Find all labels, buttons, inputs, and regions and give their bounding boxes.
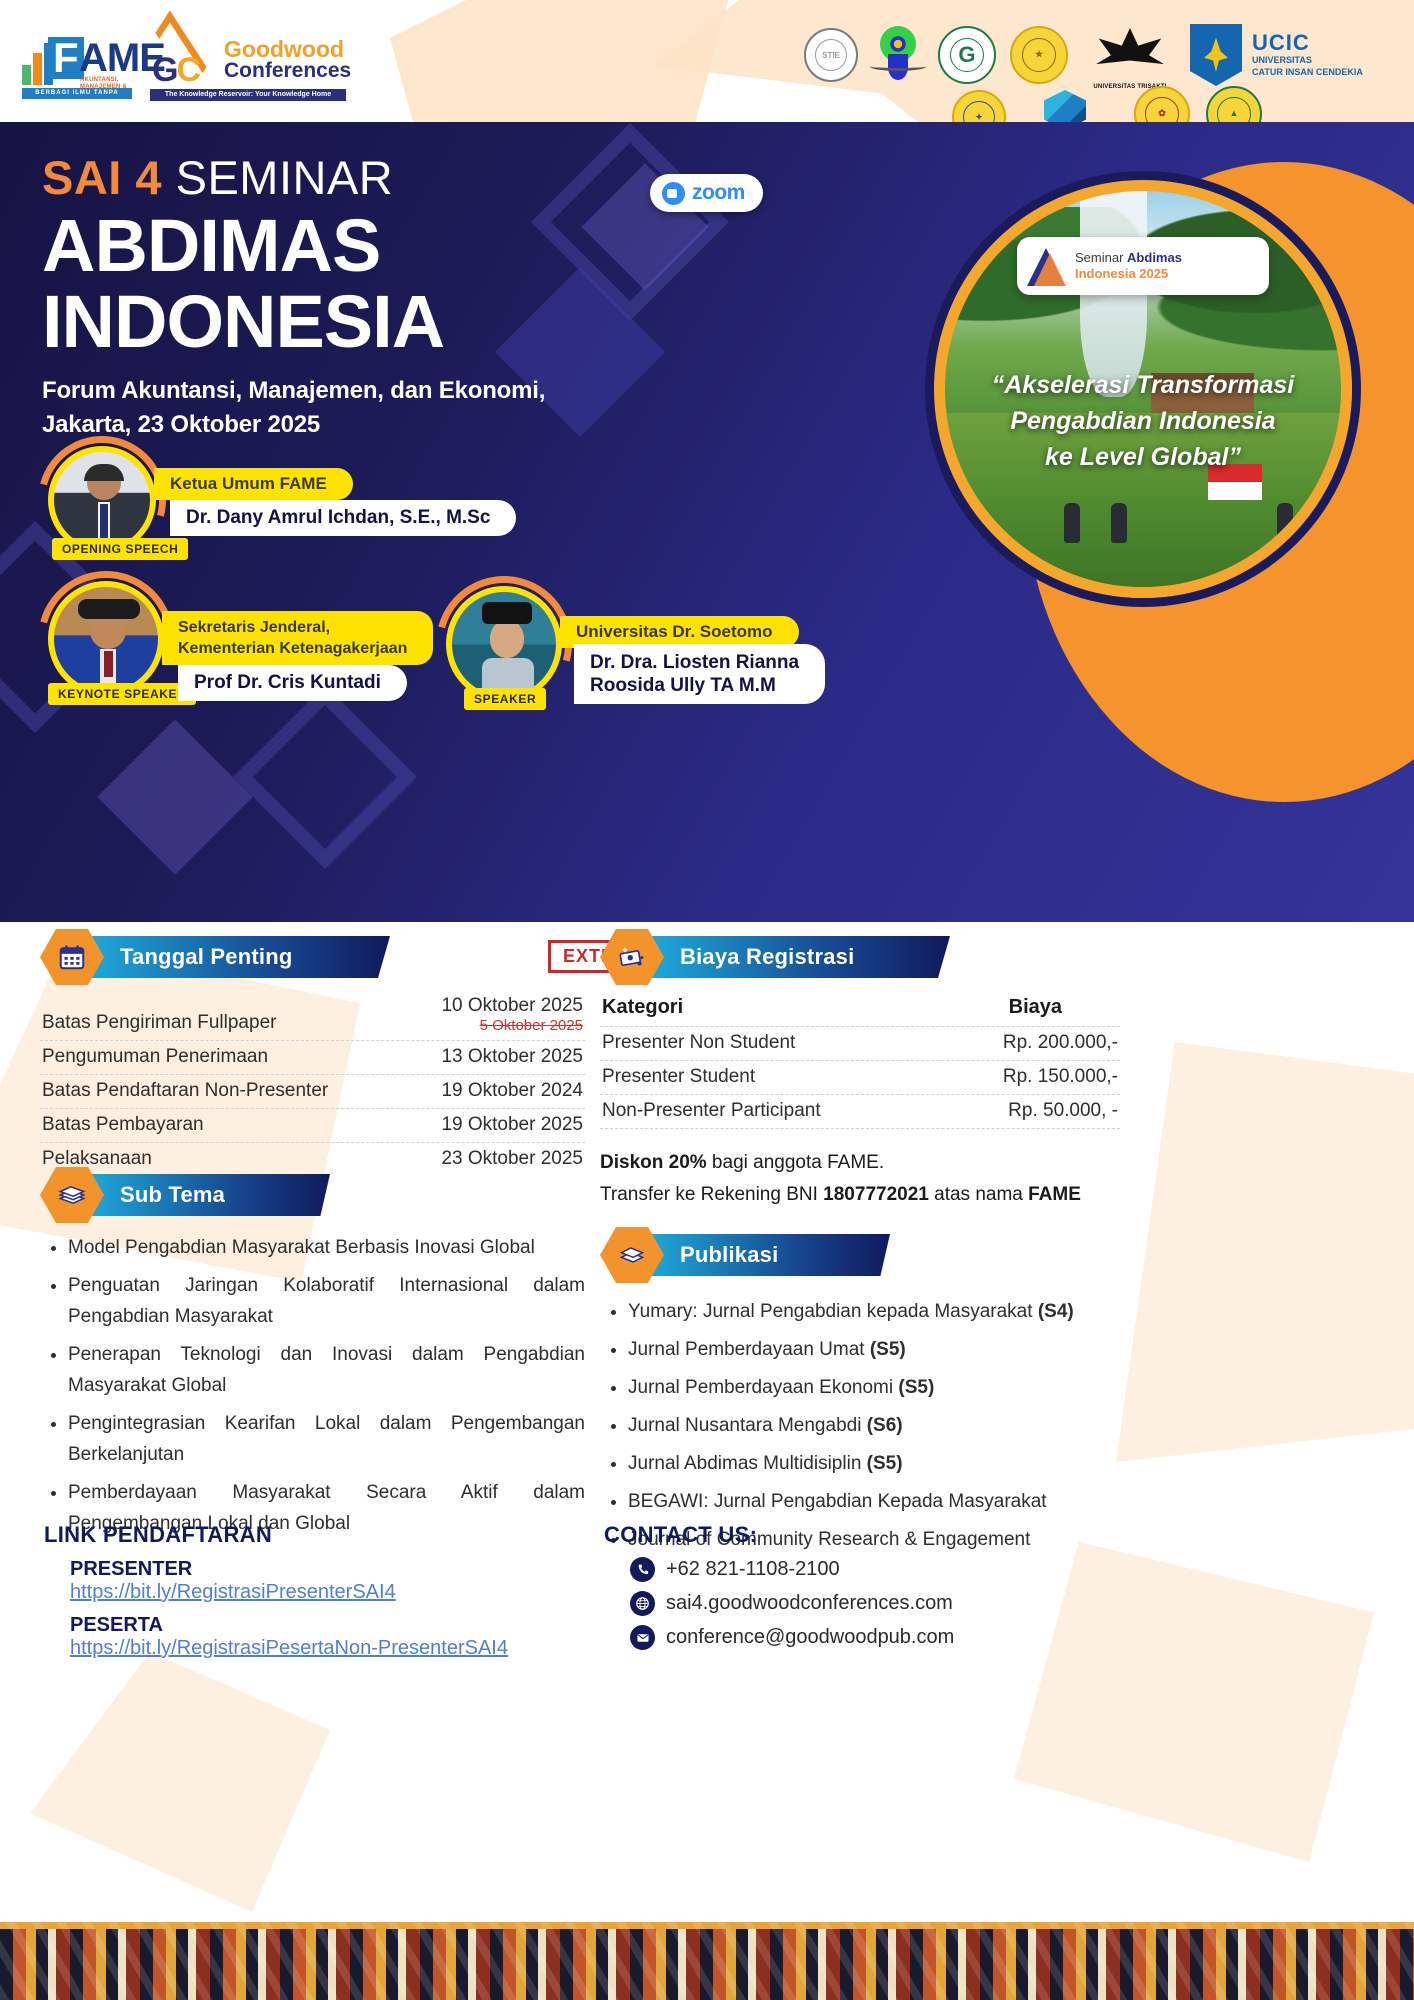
- speaker-name-1: Dr. Dany Amrul Ichdan, S.E., M.Sc: [170, 500, 516, 536]
- partner-logo-bung-hatta-seal: ★: [1010, 26, 1068, 84]
- goodwood-monogram-c: C: [176, 51, 199, 89]
- subtheme-item: Pengintegrasian Kearifan Lokal dalam Pen…: [68, 1408, 585, 1470]
- speaker-role-badge-3: SPEAKER: [464, 688, 546, 710]
- important-dates-header: Tanggal Penting: [40, 934, 585, 980]
- partner-logo-ucic: UCIC UNIVERSITAS CATUR INSAN CENDEKIA: [1190, 24, 1380, 86]
- date-row: Batas Pembayaran 19 Oktober 2025: [40, 1109, 585, 1143]
- speaker-org-2-line1: Sekretaris Jenderal,: [178, 617, 407, 638]
- phone-icon: [630, 1557, 655, 1582]
- publication-item: Jurnal Abdimas Multidisiplin (S5): [628, 1448, 1120, 1479]
- presenter-label: PRESENTER: [70, 1558, 604, 1581]
- subtheme-title: Sub Tema: [90, 1174, 330, 1216]
- panel-registration-fees: Biaya Registrasi Kategori Biaya Presente…: [600, 934, 1120, 1211]
- subtheme-item: Penerapan Teknologi dan Inovasi dalam Pe…: [68, 1339, 585, 1401]
- speaker-card-opening: OPENING SPEECH Ketua Umum FAME Dr. Dany …: [42, 442, 602, 562]
- subtheme-item: Penguatan Jaringan Kolaboratif Internasi…: [68, 1270, 585, 1332]
- goodwood-logo-tagline: The Knowledge Reservoir: Your Knowledge …: [150, 89, 346, 101]
- panel-publications: Publikasi Yumary: Jurnal Pengabdian kepa…: [600, 1232, 1120, 1562]
- hero-diamond-outline-3: [233, 685, 417, 869]
- presenter-link[interactable]: https://bit.ly/RegistrasiPresenterSAI4: [70, 1581, 396, 1603]
- subtheme-header: Sub Tema: [40, 1172, 585, 1218]
- publications-header: Publikasi: [600, 1232, 1120, 1278]
- contact-phone-row[interactable]: +62 821-1108-2100: [630, 1557, 1124, 1582]
- date-value: 23 Oktober 2025: [441, 1148, 583, 1170]
- hero-theme-quote: “Akselerasi Transformasi Pengabdian Indo…: [945, 367, 1341, 475]
- speaker-name-3: Dr. Dra. Liosten Rianna Roosida Ully TA …: [574, 644, 825, 704]
- partner-logo-flower-emblem: [870, 26, 926, 84]
- zoom-badge: zoom: [650, 174, 763, 212]
- panel-registration-links: LINK PENDAFTARAN PRESENTER https://bit.l…: [44, 1522, 604, 1660]
- hero-quote-line2: Pengabdian Indonesia: [961, 403, 1325, 439]
- fees-title: Biaya Registrasi: [650, 936, 950, 978]
- publication-name: Jurnal Pemberdayaan Umat: [628, 1339, 870, 1360]
- publication-name: Jurnal Pemberdayaan Ekonomi: [628, 1377, 898, 1398]
- publication-item: Yumary: Jurnal Pengabdian kepada Masyara…: [628, 1296, 1120, 1327]
- date-value-new: 10 Oktober 2025: [441, 995, 583, 1016]
- publication-item: Jurnal Pemberdayaan Ekonomi (S5): [628, 1372, 1120, 1403]
- transfer-middle: atas nama: [929, 1184, 1028, 1205]
- hero-photo-child-2: [1111, 503, 1127, 543]
- publication-rank: (S5): [898, 1377, 934, 1398]
- presenter-link-group: PRESENTER https://bit.ly/RegistrasiPrese…: [70, 1558, 604, 1604]
- date-row: Batas Pengiriman Fullpaper 10 Oktober 20…: [40, 990, 585, 1041]
- hero-seminar-word: SEMINAR: [176, 151, 394, 204]
- speaker-name-3-line2: Roosida Ully TA M.M: [590, 674, 799, 697]
- publications-list: Yumary: Jurnal Pengabdian kepada Masyara…: [606, 1296, 1120, 1555]
- subtheme-item: Model Pengabdian Masyarakat Berbasis Ino…: [68, 1232, 585, 1263]
- transfer-note: Transfer ke Rekening BNI 1807772021 atas…: [600, 1179, 1120, 1211]
- fees-notes: Diskon 20% bagi anggota FAME. Transfer k…: [600, 1147, 1120, 1211]
- speaker-photo-2: [48, 581, 164, 697]
- date-value-old: 5 Oktober 2025: [441, 1017, 583, 1034]
- important-dates-title: Tanggal Penting: [90, 936, 390, 978]
- seminar-logo-line2: Indonesia 2025: [1075, 266, 1182, 282]
- peserta-link-group: PESERTA https://bit.ly/RegistrasiPeserta…: [70, 1614, 604, 1660]
- date-value: 10 Oktober 2025 5 Oktober 2025: [441, 995, 583, 1034]
- contact-title: CONTACT US:: [604, 1522, 1124, 1548]
- seminar-logo-badge: Seminar Abdimas Indonesia 2025: [1017, 237, 1269, 295]
- discount-note: Diskon 20% bagi anggota FAME.: [600, 1147, 1120, 1179]
- speaker-org-1: Ketua Umum FAME: [154, 468, 353, 500]
- bg-shape-4: [30, 1652, 330, 1912]
- hero-sai-number: SAI 4: [42, 151, 162, 204]
- transfer-account-name: FAME: [1028, 1184, 1081, 1205]
- discount-text: bagi anggota FAME.: [707, 1152, 884, 1173]
- hero-banner: SAI 4 SEMINAR ABDIMAS INDONESIA Forum Ak…: [0, 122, 1414, 922]
- publication-rank: (S4): [1038, 1301, 1074, 1322]
- hero-photo-child-3: [1277, 503, 1293, 543]
- hero-subtitle-line1: Forum Akuntansi, Manajemen, dan Ekonomi,: [42, 374, 682, 408]
- seminar-logo-word-abdimas: Abdimas: [1127, 250, 1182, 265]
- date-label: Pelaksanaan: [42, 1148, 152, 1170]
- publication-name: BEGAWI: Jurnal Pengabdian Kepada Masyara…: [628, 1491, 1047, 1512]
- publication-rank: (S5): [867, 1453, 903, 1474]
- speaker-name-3-line1: Dr. Dra. Liosten Rianna: [590, 651, 799, 674]
- publication-name: Yumary: Jurnal Pengabdian kepada Masyara…: [628, 1301, 1038, 1322]
- speaker-org-2: Sekretaris Jenderal, Kementerian Ketenag…: [162, 611, 433, 665]
- publication-rank: (S5): [870, 1339, 906, 1360]
- speaker-org-2-line2: Kementerian Ketenagakerjaan: [178, 638, 407, 659]
- goodwood-logo-word1: Goodwood: [224, 37, 344, 61]
- date-value: 19 Oktober 2025: [441, 1114, 583, 1136]
- transfer-account-number: 1807772021: [823, 1184, 929, 1205]
- date-row: Batas Pendaftaran Non-Presenter 19 Oktob…: [40, 1075, 585, 1109]
- peserta-link[interactable]: https://bit.ly/RegistrasiPesertaNon-Pres…: [70, 1637, 508, 1659]
- fee-category: Presenter Non Student: [602, 1032, 795, 1054]
- partner-logo-trisakti: UNIVERSITAS TRISAKTI: [1082, 26, 1178, 92]
- fame-logo-tagline: BERBAGI ILMU TANPA BATAS: [22, 88, 132, 99]
- fame-logo: F AME AKUNTANSI, MANAJEMEN & EKONOMI BER…: [22, 37, 132, 99]
- content-area: Tanggal Penting EXTENDED Batas Pengirima…: [0, 922, 1414, 1922]
- publications-title: Publikasi: [650, 1234, 890, 1276]
- subtheme-list: Model Pengabdian Masyarakat Berbasis Ino…: [46, 1232, 585, 1539]
- batik-footer-border: [0, 1922, 1414, 2000]
- hero-title-line1: ABDIMAS: [42, 210, 682, 282]
- hero-photo: Seminar Abdimas Indonesia 2025 “Akselera…: [934, 180, 1352, 598]
- fee-category: Presenter Student: [602, 1066, 755, 1088]
- partner-logo-ucic-title: UCIC: [1252, 30, 1310, 56]
- hero-eyebrow: SAI 4 SEMINAR: [42, 150, 682, 206]
- fees-header: Biaya Registrasi: [600, 934, 1120, 980]
- peserta-label: PESERTA: [70, 1614, 604, 1637]
- goodwood-logo-word2: Conferences: [224, 59, 351, 82]
- registration-links-title: LINK PENDAFTARAN: [44, 1522, 604, 1548]
- hero-title-line2: INDONESIA: [42, 286, 682, 358]
- fees-col-price: Biaya: [1009, 996, 1062, 1019]
- date-label: Pengumuman Penerimaan: [42, 1046, 268, 1068]
- fee-price: Rp. 200.000,-: [1003, 1032, 1118, 1054]
- publication-item: Jurnal Pemberdayaan Umat (S5): [628, 1334, 1120, 1365]
- goodwood-monogram-g: G: [152, 51, 176, 89]
- seminar-logo-line1: Seminar Abdimas: [1075, 250, 1182, 266]
- fee-row: Presenter Student Rp. 150.000,-: [600, 1061, 1120, 1095]
- fee-price: Rp. 150.000,-: [1003, 1066, 1118, 1088]
- organizer-logos: F AME AKUNTANSI, MANAJEMEN & EKONOMI BER…: [22, 35, 346, 101]
- contact-email: conference@goodwoodpub.com: [666, 1626, 954, 1649]
- envelope-icon: [630, 1625, 655, 1650]
- date-value: 19 Oktober 2024: [441, 1080, 583, 1102]
- zoom-camera-icon: [662, 182, 685, 205]
- hero-photo-child-1: [1064, 503, 1080, 543]
- speaker-name-2: Prof Dr. Cris Kuntadi: [178, 665, 407, 701]
- goodwood-monogram: GC: [152, 51, 199, 90]
- panel-contact: CONTACT US: +62 821-1108-2100: [604, 1522, 1124, 1650]
- speaker-photo-3: [446, 586, 562, 702]
- panel-subtheme: Sub Tema Model Pengabdian Masyarakat Ber…: [40, 1172, 585, 1546]
- fees-table-header: Kategori Biaya: [600, 992, 1120, 1027]
- important-dates-list: Batas Pengiriman Fullpaper 10 Oktober 20…: [40, 990, 585, 1176]
- publication-name: Jurnal Abdimas Multidisiplin: [628, 1453, 867, 1474]
- seminar-logo-mark-icon: [1027, 246, 1067, 286]
- speaker-role-badge-1: OPENING SPEECH: [52, 538, 188, 560]
- bg-shape-2: [1074, 1042, 1414, 1462]
- contact-website-row[interactable]: sai4.goodwoodconferences.com: [630, 1591, 1124, 1616]
- fee-category: Non-Presenter Participant: [602, 1100, 821, 1122]
- fee-row: Non-Presenter Participant Rp. 50.000, -: [600, 1095, 1120, 1129]
- publication-item: BEGAWI: Jurnal Pengabdian Kepada Masyara…: [628, 1486, 1120, 1517]
- publication-item: Jurnal Nusantara Mengabdi (S6): [628, 1410, 1120, 1441]
- globe-icon: [630, 1591, 655, 1616]
- hero-title-block: SAI 4 SEMINAR ABDIMAS INDONESIA Forum Ak…: [42, 150, 682, 442]
- fees-col-category: Kategori: [602, 996, 683, 1019]
- hero-subtitle-line2: Jakarta, 23 Oktober 2025: [42, 408, 682, 442]
- publication-rank: (S6): [867, 1415, 903, 1436]
- partner-logo-ucic-sub2: CATUR INSAN CENDEKIA: [1252, 67, 1363, 77]
- hero-quote-line3: ke Level Global”: [961, 439, 1325, 475]
- partner-logo-ganesha-seal: G: [938, 26, 996, 84]
- hero-diamond-3: [97, 719, 253, 875]
- fee-row: Presenter Non Student Rp. 200.000,-: [600, 1027, 1120, 1061]
- date-label: Batas Pengiriman Fullpaper: [42, 1012, 276, 1034]
- date-value: 13 Oktober 2025: [441, 1046, 583, 1068]
- speaker-card-speaker: SPEAKER Universitas Dr. Soetomo Dr. Dra.…: [440, 582, 860, 717]
- date-label: Batas Pembayaran: [42, 1114, 204, 1136]
- discount-amount: Diskon 20%: [600, 1152, 707, 1173]
- fee-price: Rp. 50.000, -: [1008, 1100, 1118, 1122]
- contact-email-row[interactable]: conference@goodwoodpub.com: [630, 1625, 1124, 1650]
- zoom-label: zoom: [692, 181, 745, 205]
- panel-important-dates: Tanggal Penting EXTENDED Batas Pengirima…: [40, 934, 585, 1176]
- date-label: Batas Pendaftaran Non-Presenter: [42, 1080, 328, 1102]
- partner-logo-ucic-sub1: UNIVERSITAS: [1252, 55, 1312, 65]
- transfer-prefix: Transfer ke Rekening BNI: [600, 1184, 823, 1205]
- publication-name: Jurnal Nusantara Mengabdi: [628, 1415, 867, 1436]
- hero-quote-line1: “Akselerasi Transformasi: [961, 367, 1325, 403]
- fees-table: Kategori Biaya Presenter Non Student Rp.…: [600, 992, 1120, 1129]
- partner-logo-stie-seal: STIE: [804, 28, 858, 82]
- contact-website: sai4.goodwoodconferences.com: [666, 1592, 953, 1615]
- date-row: Pengumuman Penerimaan 13 Oktober 2025: [40, 1041, 585, 1075]
- speaker-role-badge-2: KEYNOTE SPEAKER: [48, 683, 196, 705]
- goodwood-logo: GC Goodwood Conferences The Knowledge Re…: [146, 35, 346, 101]
- seminar-logo-word-seminar: Seminar: [1075, 250, 1123, 265]
- contact-phone: +62 821-1108-2100: [666, 1558, 840, 1581]
- batik-top-stripe: [0, 1922, 1414, 1929]
